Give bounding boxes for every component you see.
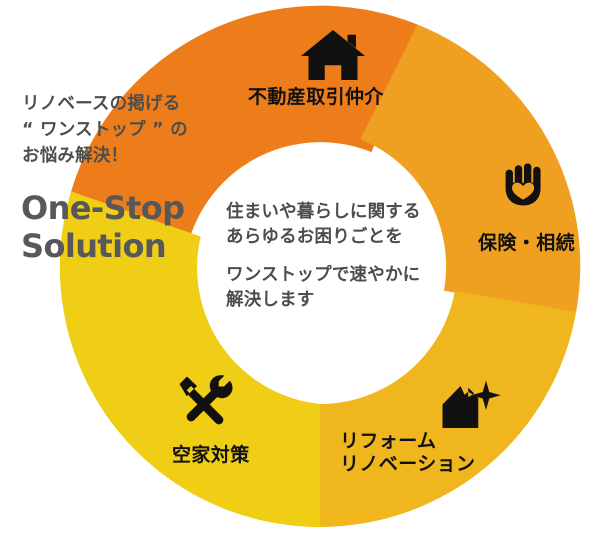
center-paragraph-1: 住まいや暮らしに関する あらゆるお困りごとを <box>226 200 456 251</box>
headline-lead-line-2: “ ワンストップ ” の <box>22 118 237 144</box>
segment-label-akiya[interactable]: 空家対策 <box>172 444 250 467</box>
segment-label-real-estate[interactable]: 不動産取引仲介 <box>248 86 384 109</box>
headline-lead: リノベースの掲げる “ ワンストップ ” の お悩み解決！ <box>22 92 237 170</box>
center-spacer <box>226 251 456 263</box>
infographic-canvas: リノベースの掲げる “ ワンストップ ” の お悩み解決！ One-Stop S… <box>0 0 600 533</box>
page-title: One-Stop Solution <box>21 190 184 266</box>
center-description: 住まいや暮らしに関する あらゆるお困りごとを ワンストップで速やかに 解決します <box>226 200 456 314</box>
headline-lead-line-3: お悩み解決！ <box>22 144 237 170</box>
segment-label-insurance[interactable]: 保険・相続 <box>478 232 575 255</box>
headline-lead-line-1: リノベースの掲げる <box>22 92 237 118</box>
center-paragraph-2: ワンストップで速やかに 解決します <box>226 263 456 314</box>
segment-label-reform[interactable]: リフォーム リノベーション <box>340 430 475 476</box>
